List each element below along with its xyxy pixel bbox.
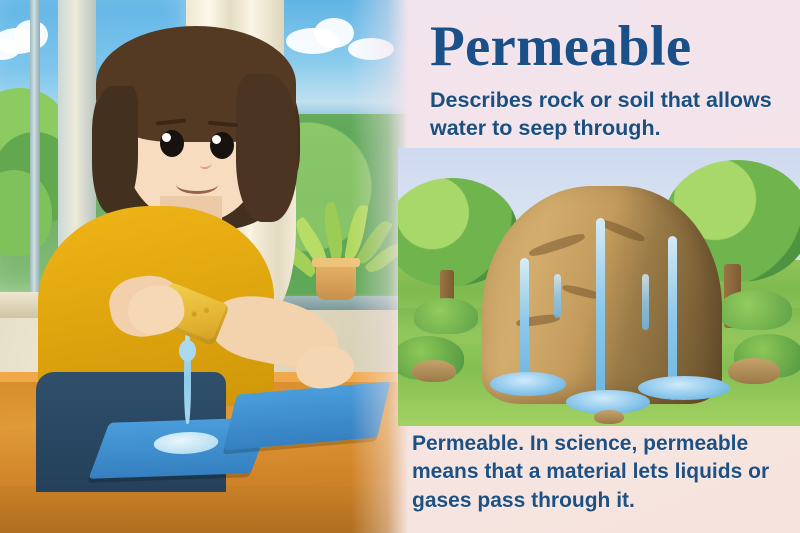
girl-eye-highlight bbox=[162, 133, 171, 142]
water-stream bbox=[596, 218, 605, 398]
small-stone bbox=[728, 358, 780, 384]
term-explanation: Permeable. In science, permeable means t… bbox=[412, 430, 784, 515]
bush bbox=[414, 298, 478, 334]
term-definition: Describes rock or soil that allows water… bbox=[430, 86, 782, 143]
small-stone bbox=[594, 410, 624, 424]
right-illustration bbox=[398, 148, 800, 426]
water-stream bbox=[520, 258, 529, 384]
water-stream bbox=[642, 274, 649, 330]
water-puddle bbox=[638, 376, 730, 400]
girl-hair-right bbox=[236, 74, 298, 222]
small-stone bbox=[412, 360, 456, 382]
water-stream bbox=[554, 274, 561, 318]
water-drop bbox=[179, 340, 196, 361]
girl-hair-left bbox=[92, 86, 138, 214]
cloud bbox=[314, 18, 354, 48]
bush bbox=[718, 290, 792, 330]
girl-smile bbox=[176, 175, 218, 194]
table-front bbox=[0, 486, 408, 533]
cloud bbox=[348, 38, 394, 60]
left-illustration bbox=[0, 0, 408, 533]
term-title: Permeable bbox=[430, 18, 691, 76]
vocabulary-card: Permeable Describes rock or soil that al… bbox=[0, 0, 800, 533]
water-puddle bbox=[490, 372, 566, 396]
flower-pot bbox=[316, 258, 356, 300]
window-mullion bbox=[30, 0, 40, 292]
girl-eye-highlight bbox=[212, 135, 221, 144]
